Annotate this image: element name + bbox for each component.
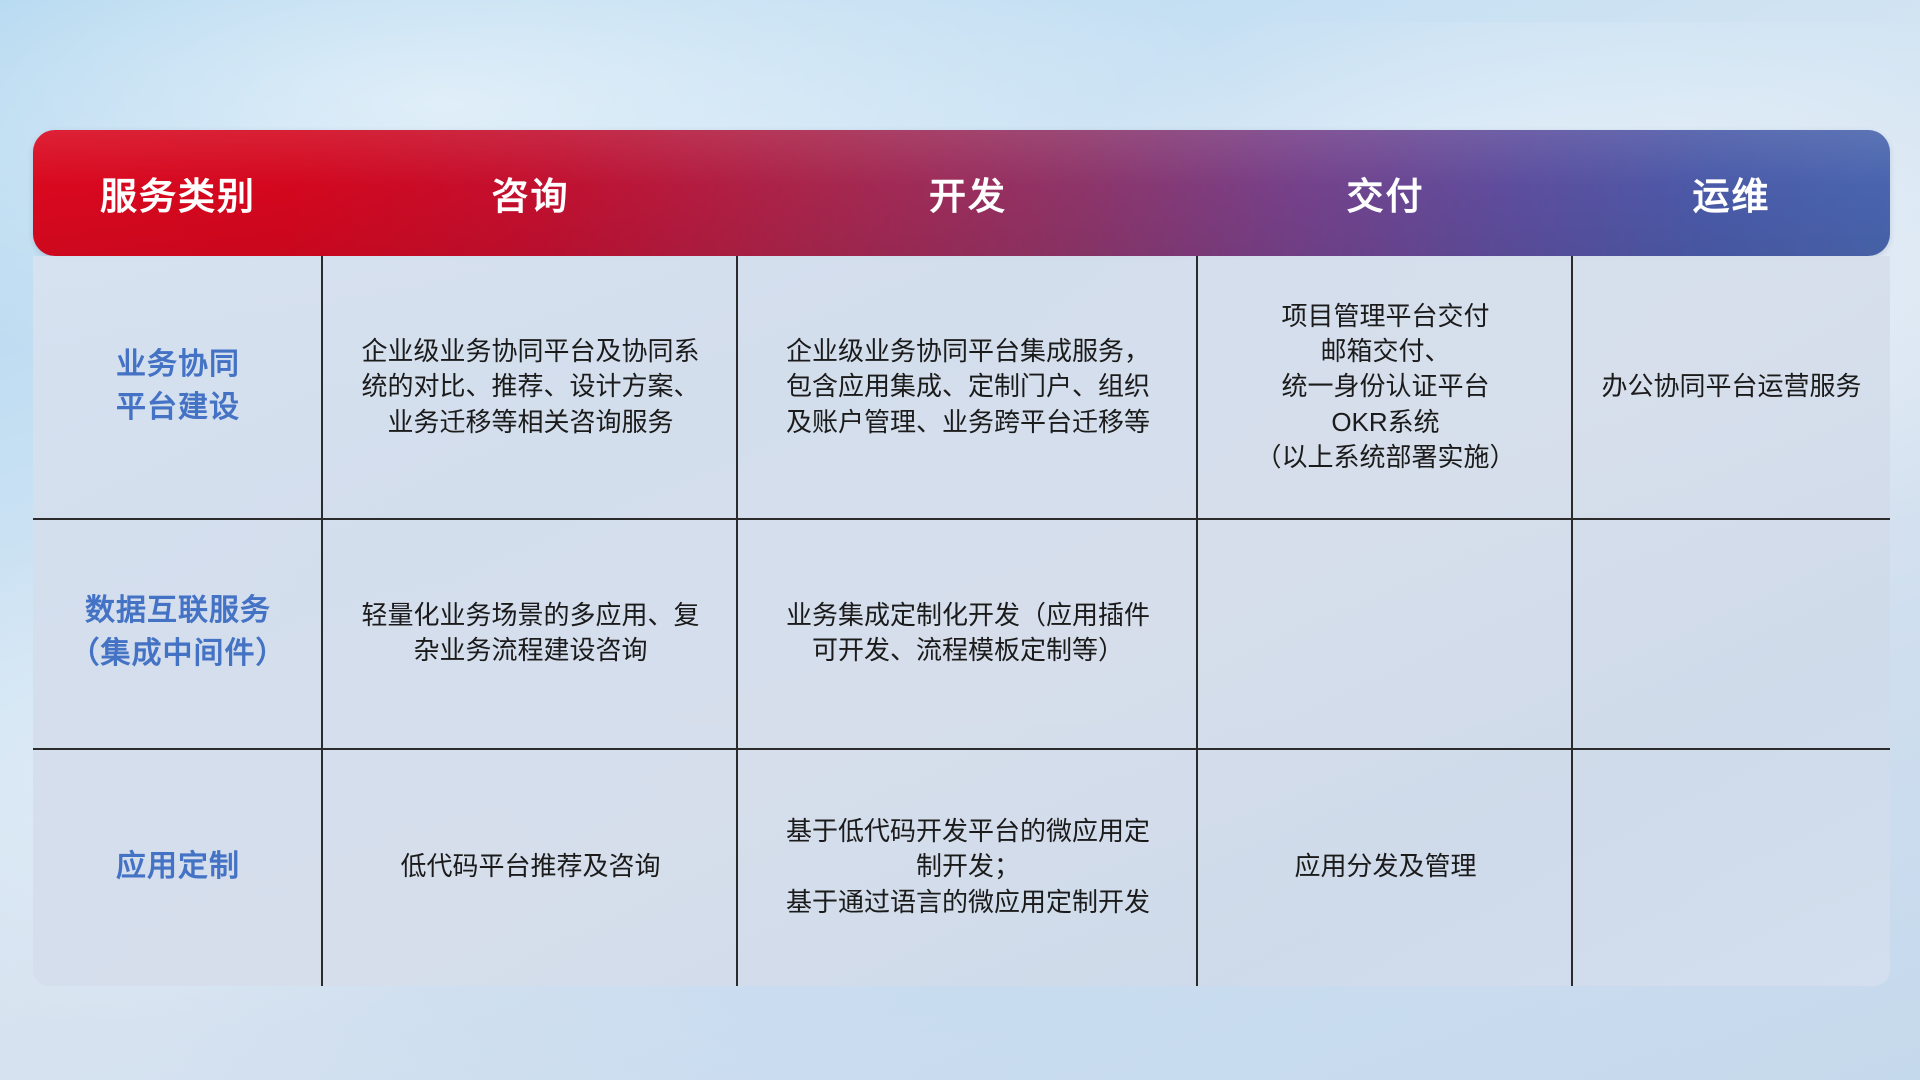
- operations-cell: 办公协同平台运营服务: [1573, 256, 1890, 518]
- table-row: 数据互联服务 （集成中间件） 轻量化业务场景的多应用、复 杂业务流程建设咨询 业…: [33, 518, 1890, 748]
- cell-text: 低代码平台推荐及咨询: [400, 849, 660, 884]
- cell-text: 基于低代码开发平台的微应用定 制开发； 基于通过语言的微应用定制开发: [786, 814, 1150, 920]
- operations-cell: [1573, 748, 1890, 986]
- cell-text: 应用分发及管理: [1294, 849, 1476, 884]
- category-label: 数据互联服务 （集成中间件）: [70, 590, 287, 675]
- development-cell: 业务集成定制化开发（应用插件 可开发、流程模板定制等）: [738, 518, 1198, 748]
- table-row: 应用定制 低代码平台推荐及咨询 基于低代码开发平台的微应用定 制开发； 基于通过…: [33, 748, 1890, 986]
- category-label: 应用定制: [116, 846, 240, 889]
- table-body: 业务协同 平台建设 企业级业务协同平台及协同系 统的对比、推荐、设计方案、 业务…: [33, 256, 1890, 986]
- cell-text: 企业级业务协同平台集成服务， 包含应用集成、定制门户、组织 及账户管理、业务跨平…: [786, 334, 1150, 440]
- column-header-development: 开发: [738, 166, 1198, 220]
- row-category-cell: 数据互联服务 （集成中间件）: [33, 518, 323, 748]
- cell-text: 业务集成定制化开发（应用插件 可开发、流程模板定制等）: [786, 598, 1150, 669]
- cell-text: 项目管理平台交付 邮箱交付、 统一身份认证平台 OKR系统 （以上系统部署实施）: [1255, 299, 1515, 476]
- consulting-cell: 企业级业务协同平台及协同系 统的对比、推荐、设计方案、 业务迁移等相关咨询服务: [323, 256, 738, 518]
- development-cell: 企业级业务协同平台集成服务， 包含应用集成、定制门户、组织 及账户管理、业务跨平…: [738, 256, 1198, 518]
- column-header-category: 服务类别: [33, 166, 323, 220]
- consulting-cell: 轻量化业务场景的多应用、复 杂业务流程建设咨询: [323, 518, 738, 748]
- column-header-delivery: 交付: [1198, 166, 1573, 220]
- row-category-cell: 应用定制: [33, 748, 323, 986]
- consulting-cell: 低代码平台推荐及咨询: [323, 748, 738, 986]
- cell-text: 轻量化业务场景的多应用、复 杂业务流程建设咨询: [361, 598, 699, 669]
- category-label: 业务协同 平台建设: [116, 344, 240, 429]
- delivery-cell: [1198, 518, 1573, 748]
- table-header-row: 服务类别 咨询 开发 交付 运维: [33, 130, 1890, 256]
- delivery-cell: 项目管理平台交付 邮箱交付、 统一身份认证平台 OKR系统 （以上系统部署实施）: [1198, 256, 1573, 518]
- column-header-consulting: 咨询: [323, 166, 738, 220]
- service-matrix-table: 服务类别 咨询 开发 交付 运维 业务协同 平台建设 企业级业务协同平台及协同系…: [33, 130, 1890, 986]
- cell-text: 企业级业务协同平台及协同系 统的对比、推荐、设计方案、 业务迁移等相关咨询服务: [361, 334, 699, 440]
- cell-text: 办公协同平台运营服务: [1601, 369, 1861, 404]
- operations-cell: [1573, 518, 1890, 748]
- table-row: 业务协同 平台建设 企业级业务协同平台及协同系 统的对比、推荐、设计方案、 业务…: [33, 256, 1890, 518]
- row-category-cell: 业务协同 平台建设: [33, 256, 323, 518]
- development-cell: 基于低代码开发平台的微应用定 制开发； 基于通过语言的微应用定制开发: [738, 748, 1198, 986]
- column-header-operations: 运维: [1573, 166, 1890, 220]
- delivery-cell: 应用分发及管理: [1198, 748, 1573, 986]
